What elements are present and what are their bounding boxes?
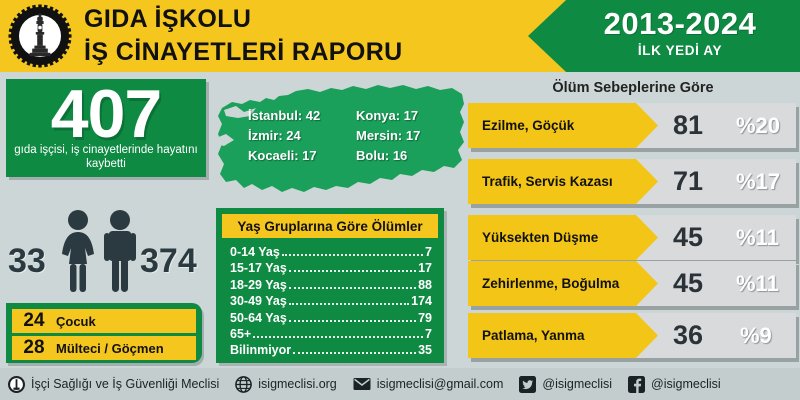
- group-row-refugee: 28 Mülteci / Göçmen: [12, 336, 196, 360]
- female-figure-icon: [62, 210, 94, 292]
- cause-label: Zehirlenme, Boğulma: [482, 261, 619, 306]
- age-value: 7: [425, 326, 432, 342]
- cause-bar-row: Zehirlenme, Boğulma 45 %11: [468, 261, 796, 306]
- child-count: 24: [12, 310, 56, 332]
- city-stat: Konya: 17: [356, 106, 456, 125]
- total-deaths-caption: gıda işçisi, iş cinayetlerinde hayatını …: [14, 143, 198, 171]
- age-value: 17: [418, 260, 432, 276]
- city-stat: İstanbul: 42: [248, 106, 356, 125]
- cause-percent: %9: [740, 313, 772, 358]
- title-line-1: GIDA İŞKOLU: [84, 3, 504, 36]
- age-groups-title: Yaş Gruplarına Göre Ölümler: [222, 214, 438, 238]
- cause-value: 45: [673, 261, 703, 306]
- total-deaths-card: 407 gıda işçisi, iş cinayetlerinde hayat…: [6, 79, 206, 177]
- envelope-icon: [353, 377, 371, 391]
- cause-label: Trafik, Servis Kazası: [482, 159, 613, 204]
- cause-label: Patlama, Yanma: [482, 313, 585, 358]
- footer-bar: İşçi Sağlığı ve İş Güvenliği Meclisi isi…: [0, 368, 800, 400]
- female-death-count: 33: [8, 242, 46, 281]
- cause-bar-row: Ezilme, Göçük 81 %20: [468, 103, 796, 148]
- age-value: 79: [418, 310, 432, 326]
- footer-org-label: İşçi Sağlığı ve İş Güvenliği Meclisi: [31, 377, 219, 391]
- footer-org: İşçi Sağlığı ve İş Güvenliği Meclisi: [8, 376, 219, 393]
- gender-breakdown: 33 374: [0, 204, 210, 296]
- refugee-count: 28: [12, 337, 56, 359]
- city-stat: Bolu: 16: [356, 146, 456, 165]
- age-label: 15-17 Yaş: [230, 260, 287, 276]
- age-label: 18-29 Yaş: [230, 277, 287, 293]
- age-value: 35: [418, 342, 432, 358]
- gender-figures: [56, 208, 146, 294]
- cause-percent: %17: [736, 159, 780, 204]
- age-row: 65+ 7: [230, 326, 432, 342]
- footer-website[interactable]: isigmeclisi.org: [235, 376, 337, 393]
- footer-facebook-label: @isigmeclisi: [651, 377, 721, 391]
- title-line-2: İŞ CİNAYETLERİ RAPORU: [84, 36, 504, 69]
- child-label: Çocuk: [56, 314, 96, 329]
- facebook-f-icon: [628, 376, 645, 393]
- cause-label: Yüksekten Düşme: [482, 215, 598, 260]
- male-figure-icon: [104, 210, 136, 292]
- dot-leader: [289, 320, 416, 322]
- age-label: 0-14 Yaş: [230, 244, 280, 260]
- cause-value: 45: [673, 215, 703, 260]
- dot-leader: [282, 254, 423, 256]
- footer-email-label: isigmeclisi@gmail.com: [377, 377, 504, 391]
- cause-value: 36: [673, 313, 703, 358]
- page-title: GIDA İŞKOLU İŞ CİNAYETLERİ RAPORU: [84, 3, 504, 69]
- city-stat: İzmir: 24: [248, 126, 356, 145]
- footer-email[interactable]: isigmeclisi@gmail.com: [353, 377, 504, 391]
- twitter-bird-icon: [519, 376, 536, 393]
- cause-bar-row: Patlama, Yanma 36 %9: [468, 313, 796, 358]
- dot-leader: [289, 303, 409, 305]
- cause-bar-row: Yüksekten Düşme 45 %11: [468, 215, 796, 260]
- footer-twitter-label: @isigmeclisi: [542, 377, 612, 391]
- age-row: 18-29 Yaş 88: [230, 277, 432, 293]
- age-label: 30-49 Yaş: [230, 293, 287, 309]
- infographic-root: GIDA İŞKOLU İŞ CİNAYETLERİ RAPORU 2013-2…: [0, 0, 800, 400]
- date-range-label: 2013-2024: [566, 6, 794, 42]
- age-value: 88: [418, 277, 432, 293]
- refugee-label: Mülteci / Göçmen: [56, 341, 164, 356]
- city-stats-list: İstanbul: 42 Konya: 17 İzmir: 24 Mersin:…: [248, 106, 463, 165]
- city-stat: Mersin: 17: [356, 126, 456, 145]
- age-row: 15-17 Yaş 17: [230, 260, 432, 276]
- cause-percent: %11: [736, 215, 779, 260]
- city-stat: Kocaeli: 17: [248, 146, 356, 165]
- cause-value: 71: [673, 159, 703, 204]
- age-groups-card: Yaş Gruplarına Göre Ölümler 0-14 Yaş 7 1…: [216, 208, 444, 363]
- turkey-map: İstanbul: 42 Konya: 17 İzmir: 24 Mersin:…: [216, 80, 468, 202]
- age-value: 7: [425, 244, 432, 260]
- causes-chart-title: Ölüm Sebeplerine Göre: [468, 80, 798, 96]
- age-groups-list: 0-14 Yaş 7 15-17 Yaş 17 18-29 Yaş 88 30-…: [230, 244, 432, 359]
- cause-bar-row: Trafik, Servis Kazası 71 %17: [468, 159, 796, 204]
- age-row: Bilinmiyor 35: [230, 342, 432, 358]
- age-row: 30-49 Yaş 174: [230, 293, 432, 309]
- vulnerable-groups-card: 24 Çocuk 28 Mülteci / Göçmen: [6, 303, 202, 363]
- cause-value: 81: [673, 103, 703, 148]
- globe-icon: [235, 376, 252, 393]
- footer-twitter[interactable]: @isigmeclisi: [519, 376, 612, 393]
- age-label: 65+: [230, 326, 251, 342]
- age-value: 174: [411, 293, 432, 309]
- footer-facebook[interactable]: @isigmeclisi: [628, 376, 721, 393]
- cause-percent: %20: [736, 103, 780, 148]
- cause-percent: %11: [736, 261, 779, 306]
- gear-clocktower-logo: [8, 4, 72, 68]
- male-death-count: 374: [140, 242, 197, 281]
- footer-website-label: isigmeclisi.org: [258, 377, 337, 391]
- cause-label: Ezilme, Göçük: [482, 103, 574, 148]
- age-label: Bilinmiyor: [230, 342, 291, 358]
- age-row: 50-64 Yaş 79: [230, 310, 432, 326]
- dot-leader: [293, 352, 416, 354]
- age-label: 50-64 Yaş: [230, 310, 287, 326]
- date-range-subtitle: İLK YEDİ AY: [566, 43, 794, 58]
- clocktower-logo-icon: [8, 376, 25, 393]
- group-row-child: 24 Çocuk: [12, 309, 196, 333]
- dot-leader: [289, 287, 416, 289]
- total-deaths-number: 407: [6, 75, 206, 153]
- dot-leader: [289, 270, 416, 272]
- dot-leader: [253, 336, 423, 338]
- age-row: 0-14 Yaş 7: [230, 244, 432, 260]
- header-bar: GIDA İŞKOLU İŞ CİNAYETLERİ RAPORU 2013-2…: [0, 0, 800, 72]
